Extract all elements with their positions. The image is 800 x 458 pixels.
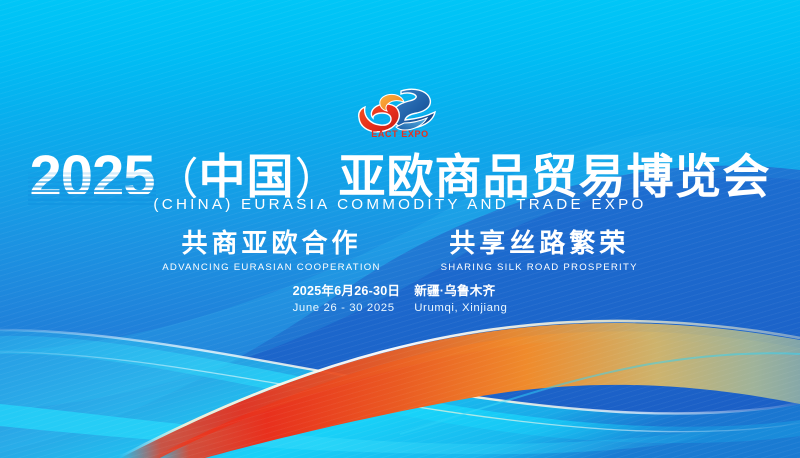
expo-banner: EACT EXPO 2025（中国）亚欧商品贸易博览会 (CHINA) EURA…	[0, 0, 800, 458]
logo-wordmark: EACT EXPO	[371, 129, 428, 139]
location-cn: 新疆·乌鲁木齐	[414, 284, 507, 300]
slogan-1-en: ADVANCING EURASIAN COOPERATION	[162, 262, 380, 273]
slogan-1-cn: 共商亚欧合作	[162, 228, 380, 259]
page-title-english: (CHINA) EURASIA COMMODITY AND TRADE EXPO	[0, 196, 800, 213]
slogan-2: 共享丝路繁荣 SHARING SILK ROAD PROSPERITY	[441, 228, 638, 273]
slogan-group: 共商亚欧合作 ADVANCING EURASIAN COOPERATION 共享…	[0, 228, 800, 273]
logo-red-swoosh	[359, 104, 399, 132]
logo-wordmark-text: EACT EXPO	[371, 129, 428, 139]
location-column: 新疆·乌鲁木齐 Urumqi, Xinjiang	[414, 284, 507, 316]
date-location-block: 2025年6月26-30日 June 26 - 30 2025 新疆·乌鲁木齐 …	[0, 284, 800, 316]
eact-expo-logo-icon: EACT EXPO	[357, 85, 443, 141]
logo-container: EACT EXPO	[0, 84, 800, 142]
location-en: Urumqi, Xinjiang	[414, 301, 507, 316]
slogan-2-cn: 共享丝路繁荣	[441, 228, 638, 259]
date-en: June 26 - 30 2025	[293, 301, 401, 316]
date-column: 2025年6月26-30日 June 26 - 30 2025	[293, 284, 401, 316]
slogan-2-en: SHARING SILK ROAD PROSPERITY	[441, 262, 638, 273]
slogan-1: 共商亚欧合作 ADVANCING EURASIAN COOPERATION	[162, 228, 380, 273]
date-cn: 2025年6月26-30日	[293, 284, 401, 300]
